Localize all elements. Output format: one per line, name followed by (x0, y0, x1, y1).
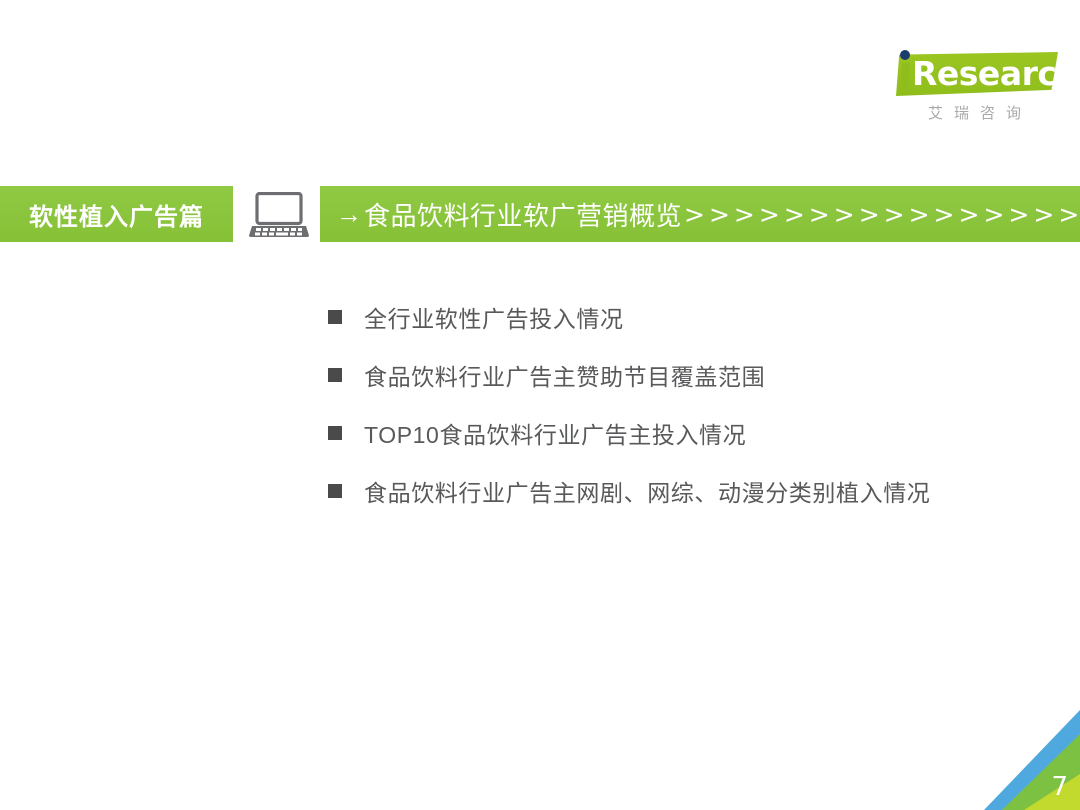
chevron-decoration-strip: >>>>>>>>>>>>>>>>>>> (684, 202, 1080, 227)
agenda-list: 全行业软性广告投入情况食品饮料行业广告主赞助节目覆盖范围TOP10食品饮料行业广… (328, 288, 1028, 520)
iresearch-logo: Research 艾瑞咨询 (868, 46, 1068, 138)
square-bullet-icon (328, 484, 342, 498)
chevron-icon: > (983, 202, 1004, 227)
logo-wordmark: Research (912, 55, 1079, 92)
corner-decoration: 7 (940, 700, 1080, 810)
page-number: 7 (1051, 772, 1068, 802)
chevron-icon: > (884, 202, 905, 227)
chevron-icon: > (784, 202, 805, 227)
section-tag-banner: 软性植入广告篇 (0, 186, 233, 242)
chevron-icon: > (684, 202, 705, 227)
square-bullet-icon (328, 310, 342, 324)
chevron-icon: > (1008, 202, 1029, 227)
list-item-label: 食品饮料行业广告主网剧、网综、动漫分类别植入情况 (364, 474, 930, 508)
logo-mark: Research (868, 46, 1068, 102)
chevron-icon: > (709, 202, 730, 227)
list-item: 食品饮料行业广告主赞助节目覆盖范围 (328, 346, 1028, 404)
square-bullet-icon (328, 426, 342, 440)
chevron-icon: > (834, 202, 855, 227)
chevron-icon: > (859, 202, 880, 227)
chevron-icon: > (734, 202, 755, 227)
section-tag-label: 软性植入广告篇 (29, 197, 204, 232)
chevron-icon: > (959, 202, 980, 227)
laptop-icon (249, 192, 309, 238)
chevron-icon: > (809, 202, 830, 227)
logo-i-dot-icon (900, 50, 910, 60)
slide-title-bar: → 食品饮料行业软广营销概览 >>>>>>>>>>>>>>>>>>> (320, 186, 1080, 242)
chevron-icon: > (759, 202, 780, 227)
list-item-label: TOP10食品饮料行业广告主投入情况 (364, 416, 746, 450)
slide-header: 软性植入广告篇 → 食品饮料行业软广营销概览 >>>>>>>>>>>>>>>>>… (0, 186, 1080, 242)
list-item-label: 全行业软性广告投入情况 (364, 300, 624, 334)
list-item: TOP10食品饮料行业广告主投入情况 (328, 404, 1028, 462)
list-item-label: 食品饮料行业广告主赞助节目覆盖范围 (364, 358, 765, 392)
chevron-icon: > (1058, 202, 1079, 227)
chevron-icon: > (909, 202, 930, 227)
square-bullet-icon (328, 368, 342, 382)
list-item: 全行业软性广告投入情况 (328, 288, 1028, 346)
logo-i-stem-icon (900, 63, 910, 94)
logo-subtitle-chinese: 艾瑞咨询 (892, 102, 1068, 123)
chevron-icon: > (1033, 202, 1054, 227)
chevron-icon: > (934, 202, 955, 227)
right-arrow-icon: → (336, 201, 362, 227)
list-item: 食品饮料行业广告主网剧、网综、动漫分类别植入情况 (328, 462, 1028, 520)
slide-title: 食品饮料行业软广营销概览 (364, 196, 682, 233)
